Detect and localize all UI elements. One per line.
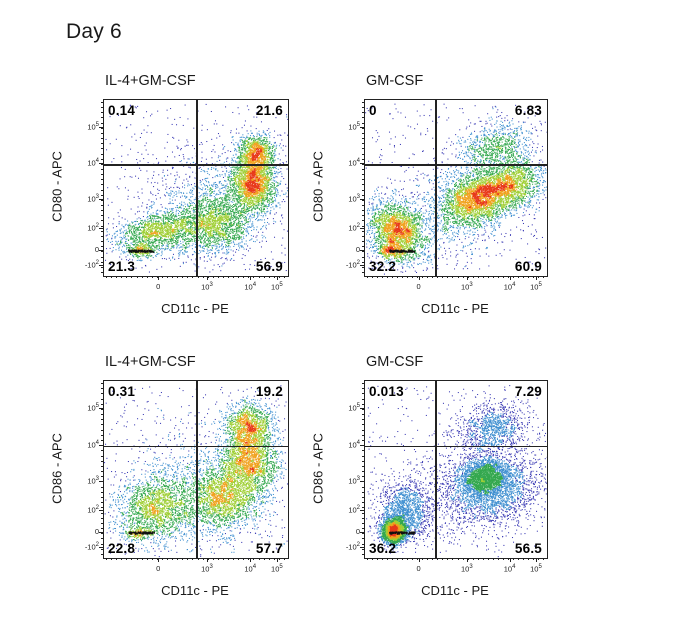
panel-4-vertical-gate[interactable] bbox=[435, 381, 437, 558]
flow-cytometry-figure: Day 6 IL-4+GM-CSFCD80 - APCCD11c - PE105… bbox=[0, 0, 684, 636]
panel-4-quadrant-lower-right: 56.5 bbox=[515, 541, 542, 556]
panel-4-y-axis-label: CD86 - APC bbox=[311, 408, 326, 528]
panel-4-x-tick-3: 105 bbox=[523, 564, 549, 574]
panel-4-title: GM-CSF bbox=[366, 354, 423, 370]
panel-4-quadrant-upper-right: 7.29 bbox=[515, 384, 542, 399]
panel-4-x-axis-label: CD11c - PE bbox=[364, 583, 546, 598]
panel-4-y-tick-0: 105 bbox=[338, 403, 360, 413]
panel-4-x-tick-0: 0 bbox=[406, 564, 432, 573]
panel-4-x-tick-1: 103 bbox=[454, 564, 480, 574]
panel-4-plot-area: 0.0137.2936.256.5 bbox=[364, 380, 548, 559]
panel-4-x-tick-2: 104 bbox=[497, 564, 523, 574]
panel-4-quadrant-lower-left: 36.2 bbox=[369, 541, 396, 556]
panel-4-horizontal-gate[interactable] bbox=[365, 446, 547, 448]
panel-4-scatter-canvas bbox=[365, 381, 547, 558]
panel-4-quadrant-upper-left: 0.013 bbox=[369, 384, 404, 399]
panel-4-y-tick-5: -102 bbox=[338, 542, 360, 552]
panel-4: GM-CSFCD86 - APCCD11c - PE1051041031020-… bbox=[0, 0, 684, 636]
panel-4-y-tick-2: 103 bbox=[338, 476, 360, 486]
panel-4-y-tick-3: 102 bbox=[338, 505, 360, 515]
panel-4-y-tick-1: 104 bbox=[338, 440, 360, 450]
panel-4-y-tick-4: 0 bbox=[338, 527, 360, 536]
